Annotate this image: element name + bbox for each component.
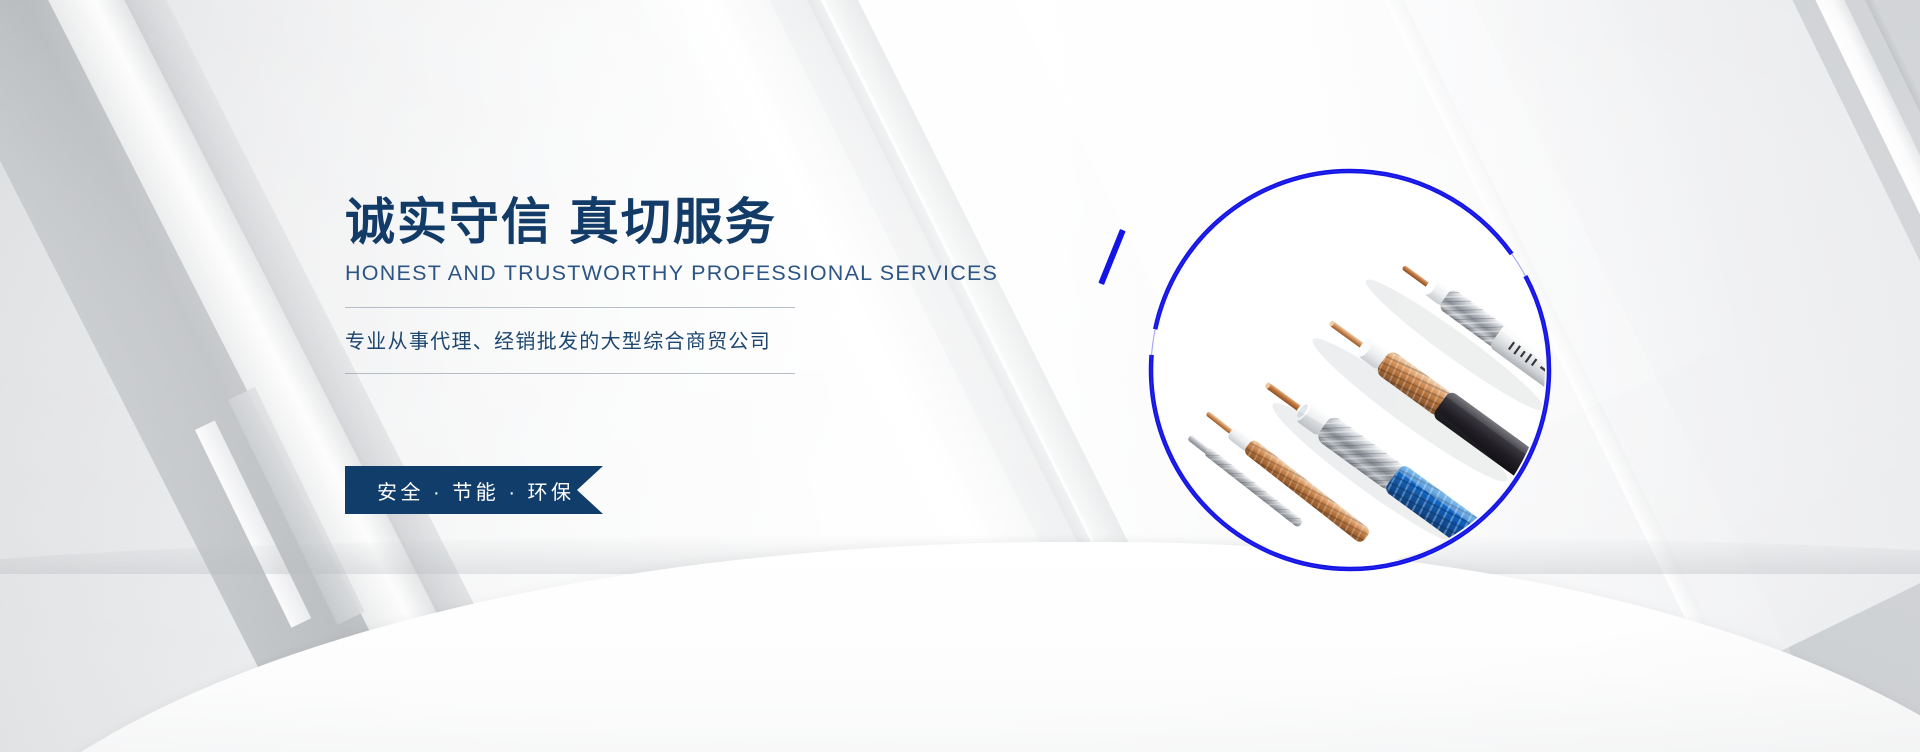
- hero-headline: 诚实守信 真切服务: [345, 196, 865, 248]
- hero-text-block: 诚实守信 真切服务 HONEST AND TRUSTWORTHY PROFESS…: [345, 196, 865, 374]
- hero-banner: 诚实守信 真切服务 HONEST AND TRUSTWORTHY PROFESS…: [0, 0, 1920, 752]
- feature-badge: 安全 · 节能 · 环保: [345, 466, 603, 514]
- divider-bottom: [345, 373, 795, 374]
- background-vignette: [0, 0, 1920, 752]
- feature-badge-ribbon: 安全 · 节能 · 环保: [345, 466, 603, 514]
- hero-subtitle-english: HONEST AND TRUSTWORTHY PROFESSIONAL SERV…: [345, 261, 865, 286]
- feature-badge-label: 安全 · 节能 · 环保: [345, 476, 575, 505]
- divider-top: [345, 307, 795, 308]
- cable-photo-circle: [1155, 175, 1545, 565]
- blue-circle-outline-icon: [1147, 167, 1553, 573]
- hero-subtitle-chinese: 专业从事代理、经销批发的大型综合商贸公司: [345, 325, 865, 354]
